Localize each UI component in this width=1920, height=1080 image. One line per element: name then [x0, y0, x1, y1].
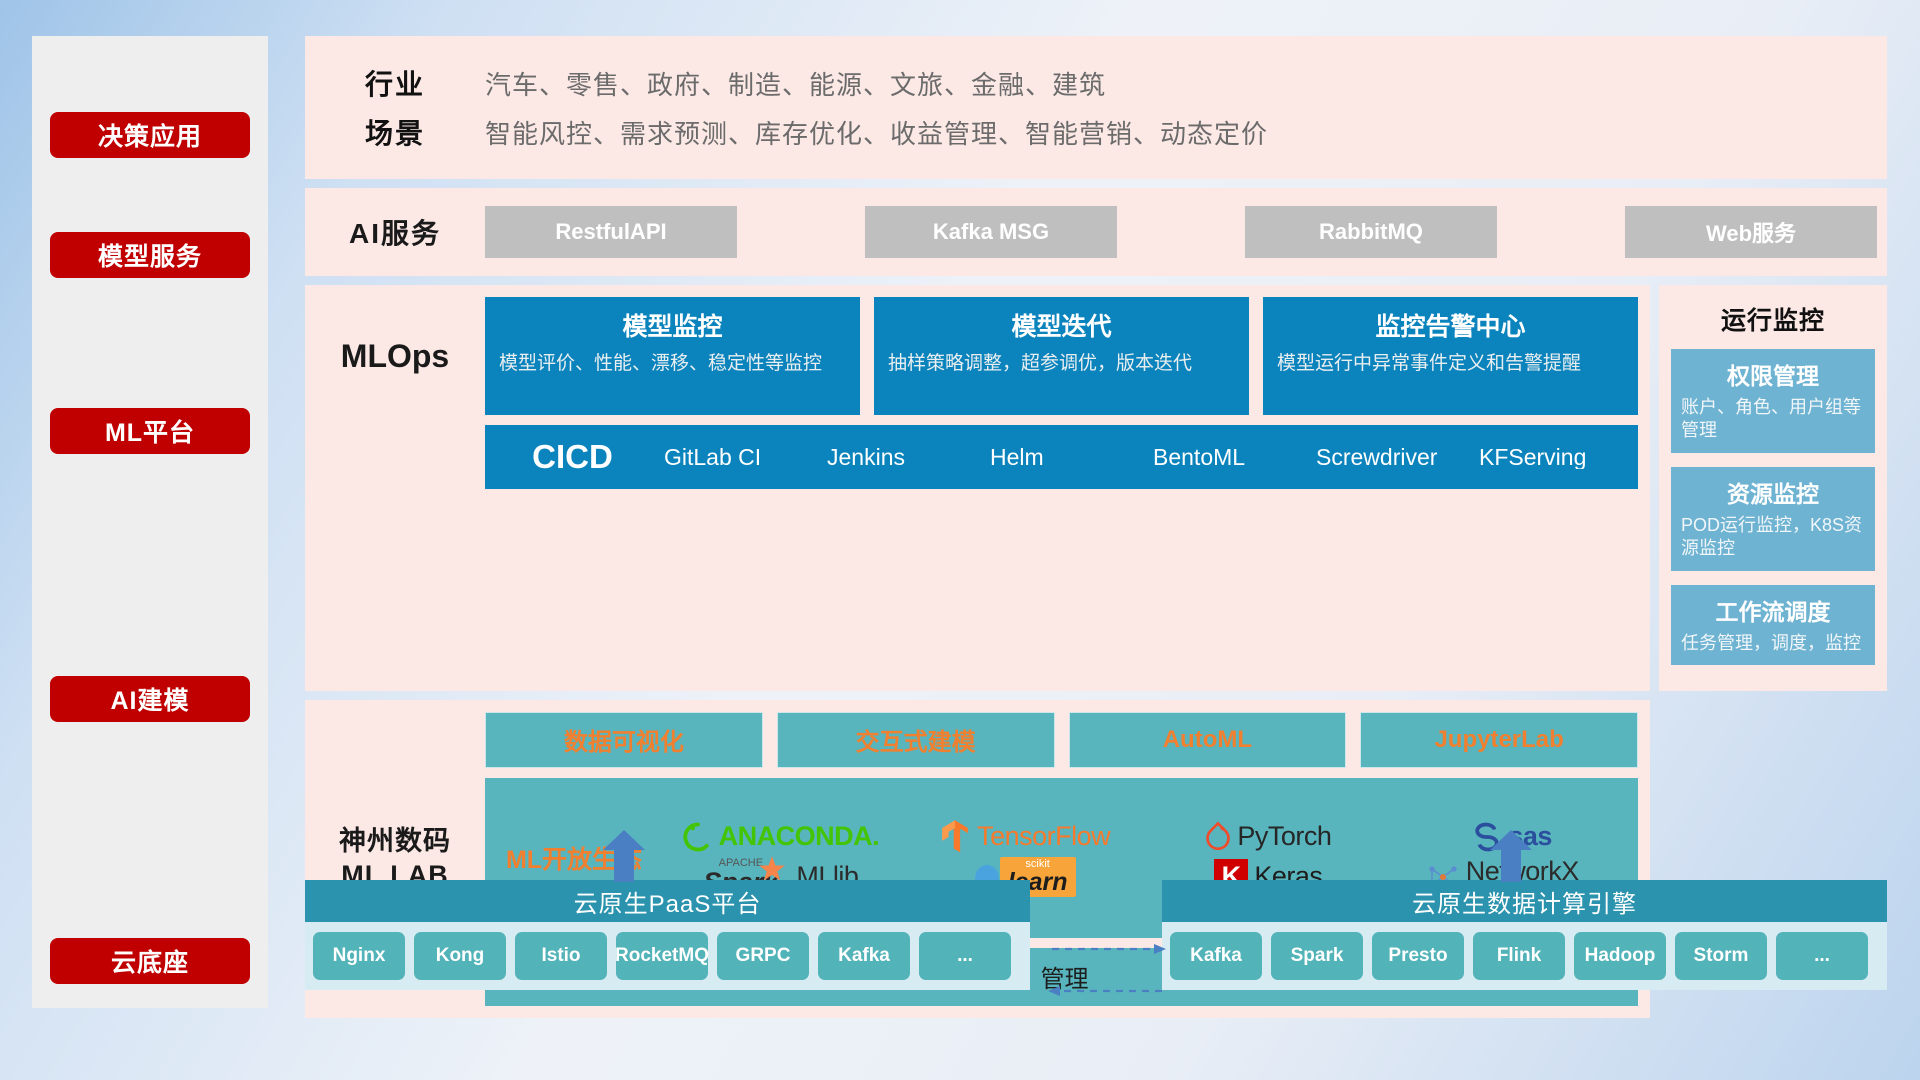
monitor-card-desc: 任务管理，调度，监控 — [1681, 632, 1865, 655]
cicd-item-screwdriver[interactable]: Screwdriver — [1312, 445, 1475, 469]
chip-grpc[interactable]: GRPC — [717, 932, 809, 980]
pytorch-icon — [1205, 821, 1231, 853]
chip-rocketmq[interactable]: RocketMQ — [616, 932, 708, 980]
cicd-item-kfserving[interactable]: KFServing — [1475, 445, 1638, 469]
rail-item-ai-modeling[interactable]: AI建模 — [50, 676, 250, 722]
ml-lab-tabs: 数据可视化 交互式建模 AutoML JupyterLab — [485, 712, 1638, 768]
monitor-card-resource[interactable]: 资源监控 POD运行监控，K8S资源监控 — [1671, 467, 1875, 571]
rail-item-decision-app[interactable]: 决策应用 — [50, 112, 250, 158]
tab-automl[interactable]: AutoML — [1069, 712, 1347, 768]
service-chip-rabbitmq[interactable]: RabbitMQ — [1245, 206, 1497, 258]
pytorch-text: PyTorch — [1237, 821, 1331, 852]
service-chip-web-service[interactable]: Web服务 — [1625, 206, 1877, 258]
scenario-row: 场景 智能风控、需求预测、库存优化、收益管理、智能营销、动态定价 — [305, 112, 1887, 152]
compute-title: 云原生数据计算引擎 — [1162, 880, 1887, 922]
cicd-bar: CICD GitLab CI Jenkins Helm BentoML Scre… — [485, 425, 1638, 489]
chip-flink[interactable]: Flink — [1473, 932, 1565, 980]
mlops-card-desc: 抽样策略调整，超参调优，版本迭代 — [888, 351, 1235, 377]
tensorflow-text: TensorFlow — [977, 821, 1110, 852]
industry-scenario-band: 行业 汽车、零售、政府、制造、能源、文旅、金融、建筑 场景 智能风控、需求预测、… — [305, 36, 1887, 179]
monitor-card-title: 工作流调度 — [1681, 593, 1865, 627]
monitor-card-title: 权限管理 — [1681, 357, 1865, 391]
paas-up-arrow-icon — [601, 830, 647, 882]
compute-group: 云原生数据计算引擎 Kafka Spark Presto Flink Hadoo… — [1162, 880, 1887, 990]
connector-arrow-left-icon — [1048, 986, 1060, 996]
tab-data-visualization[interactable]: 数据可视化 — [485, 712, 763, 768]
chip-presto[interactable]: Presto — [1372, 932, 1464, 980]
mlops-card-title: 模型监控 — [499, 307, 846, 343]
cicd-item-helm[interactable]: Helm — [986, 445, 1149, 469]
compute-chips: Kafka Spark Presto Flink Hadoop Storm ..… — [1162, 922, 1887, 990]
mlops-band: MLOps 模型监控 模型评价、性能、漂移、稳定性等监控 模型迭代 抽样策略调整… — [305, 285, 1650, 691]
compute-up-arrow-icon — [1488, 830, 1534, 882]
mlops-card-alert-center[interactable]: 监控告警中心 模型运行中异常事件定义和告警提醒 — [1263, 297, 1638, 415]
scenario-label: 场景 — [305, 112, 485, 152]
tensorflow-logo: TensorFlow — [939, 819, 1110, 855]
mlops-card-desc: 模型运行中异常事件定义和告警提醒 — [1277, 351, 1624, 377]
monitor-card-workflow[interactable]: 工作流调度 任务管理，调度，监控 — [1671, 585, 1875, 665]
tab-interactive-modeling[interactable]: 交互式建模 — [777, 712, 1055, 768]
tab-jupyterlab[interactable]: JupyterLab — [1360, 712, 1638, 768]
ai-service-label: AI服务 — [305, 212, 485, 252]
pytorch-logo: PyTorch — [1205, 821, 1331, 853]
layer-rail: 决策应用 模型服务 ML平台 AI建模 云底座 — [32, 36, 268, 1008]
anaconda-icon — [683, 822, 713, 852]
paas-chips: Nginx Kong Istio RocketMQ GRPC Kafka ... — [305, 922, 1030, 990]
monitor-card-desc: 账户、角色、用户组等管理 — [1681, 396, 1865, 443]
monitor-card-desc: POD运行监控，K8S资源监控 — [1681, 514, 1865, 561]
rail-item-ml-platform[interactable]: ML平台 — [50, 408, 250, 454]
chip-istio[interactable]: Istio — [515, 932, 607, 980]
rail-item-cloud-base[interactable]: 云底座 — [50, 938, 250, 984]
chip-nginx[interactable]: Nginx — [313, 932, 405, 980]
cicd-item-bentoml[interactable]: BentoML — [1149, 445, 1312, 469]
cicd-item-gitlab-ci[interactable]: GitLab CI — [660, 445, 823, 469]
chip-hadoop[interactable]: Hadoop — [1574, 932, 1666, 980]
industry-row: 行业 汽车、零售、政府、制造、能源、文旅、金融、建筑 — [305, 63, 1887, 103]
scenario-value: 智能风控、需求预测、库存优化、收益管理、智能营销、动态定价 — [485, 114, 1268, 151]
industry-value: 汽车、零售、政府、制造、能源、文旅、金融、建筑 — [485, 65, 1106, 102]
chip-kafka-compute[interactable]: Kafka — [1170, 932, 1262, 980]
ml-lab-label-line1: 神州数码 — [305, 825, 485, 859]
rail-item-model-service[interactable]: 模型服务 — [50, 232, 250, 278]
monitor-card-title: 资源监控 — [1681, 475, 1865, 509]
mlops-card-model-iteration[interactable]: 模型迭代 抽样策略调整，超参调优，版本迭代 — [874, 297, 1249, 415]
tensorflow-icon — [939, 819, 971, 855]
mlops-and-monitor-row: MLOps 模型监控 模型评价、性能、漂移、稳定性等监控 模型迭代 抽样策略调整… — [305, 285, 1887, 691]
chip-kong[interactable]: Kong — [414, 932, 506, 980]
paas-group: 云原生PaaS平台 Nginx Kong Istio RocketMQ GRPC… — [305, 880, 1030, 990]
chip-spark[interactable]: Spark — [1271, 932, 1363, 980]
cicd-title: CICD — [485, 438, 660, 476]
cloud-bidirectional-connector — [1048, 935, 1166, 1005]
connector-arrow-right-icon — [1154, 944, 1166, 954]
service-chip-restfulapi[interactable]: RestfulAPI — [485, 206, 737, 258]
spark-star-icon — [758, 855, 786, 883]
cicd-item-jenkins[interactable]: Jenkins — [823, 445, 986, 469]
mlops-card-title: 模型迭代 — [888, 307, 1235, 343]
mlops-card-model-monitor[interactable]: 模型监控 模型评价、性能、漂移、稳定性等监控 — [485, 297, 860, 415]
chip-paas-more[interactable]: ... — [919, 932, 1011, 980]
industry-label: 行业 — [305, 63, 485, 103]
service-chip-kafka-msg[interactable]: Kafka MSG — [865, 206, 1117, 258]
monitor-card-permission[interactable]: 权限管理 账户、角色、用户组等管理 — [1671, 349, 1875, 453]
anaconda-logo: ANACONDA. — [683, 821, 880, 852]
mlops-card-title: 监控告警中心 — [1277, 307, 1624, 343]
chip-compute-more[interactable]: ... — [1776, 932, 1868, 980]
anaconda-text: ANACONDA. — [719, 821, 880, 852]
chip-storm[interactable]: Storm — [1675, 932, 1767, 980]
runtime-monitor-panel: 运行监控 权限管理 账户、角色、用户组等管理 资源监控 POD运行监控，K8S资… — [1659, 285, 1887, 691]
chip-kafka[interactable]: Kafka — [818, 932, 910, 980]
runtime-monitor-title: 运行监控 — [1671, 301, 1875, 337]
mlops-label: MLOps — [305, 297, 485, 415]
paas-title: 云原生PaaS平台 — [305, 880, 1030, 922]
mlops-card-desc: 模型评价、性能、漂移、稳定性等监控 — [499, 351, 846, 377]
architecture-main: 行业 汽车、零售、政府、制造、能源、文旅、金融、建筑 场景 智能风控、需求预测、… — [305, 36, 1887, 1018]
ai-service-band: AI服务 RestfulAPI Kafka MSG RabbitMQ Web服务 — [305, 188, 1887, 276]
